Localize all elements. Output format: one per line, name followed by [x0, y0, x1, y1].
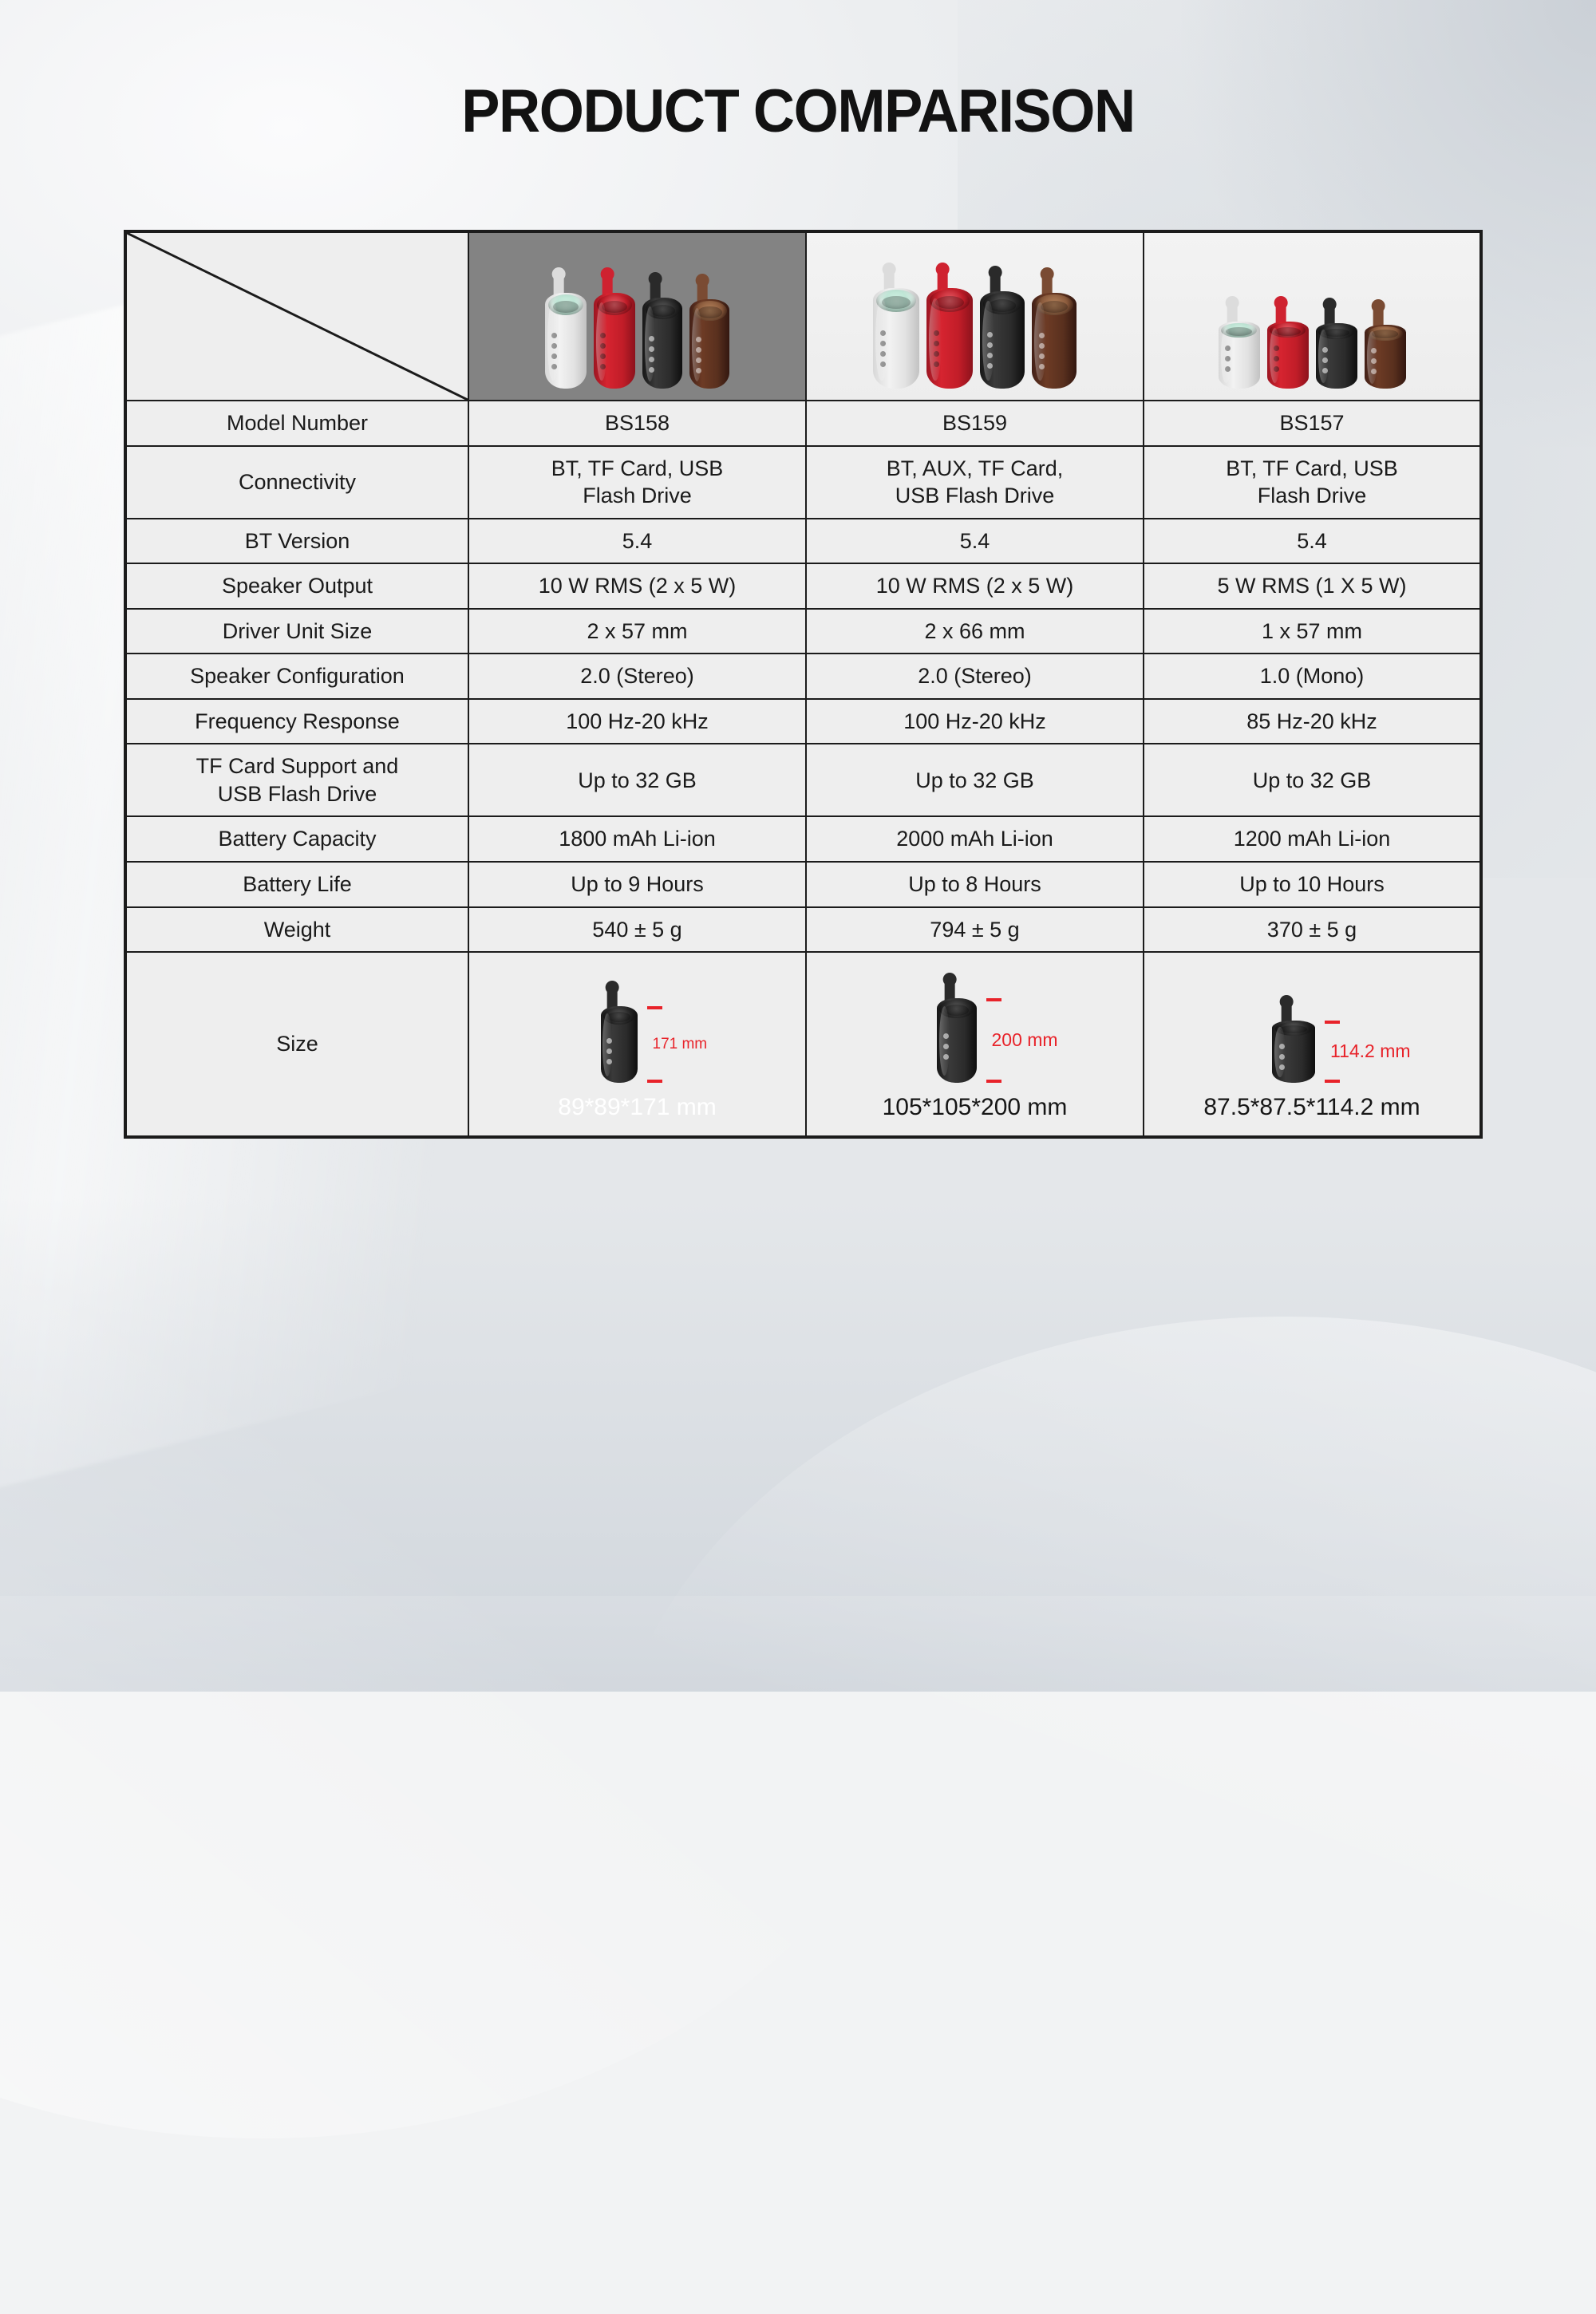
table-row: Driver Unit Size 2 x 57 mm 2 x 66 mm 1 x…: [125, 609, 1481, 654]
row-label: Battery Life: [125, 862, 468, 907]
table-row: Battery Capacity 1800 mAh Li-ion 2000 mA…: [125, 816, 1481, 862]
table-row-size: Size 171 mm: [125, 952, 1481, 1137]
row-value-bs158: 540 ± 5 g: [468, 907, 806, 953]
table-body: Model Number BS158 BS159 BS157 Connectiv…: [125, 231, 1481, 1137]
row-value-bs158: Up to 9 Hours: [468, 862, 806, 907]
speaker-white-icon: [873, 288, 919, 389]
product-comparison-table: Model Number BS158 BS159 BS157 Connectiv…: [124, 230, 1483, 1139]
size-caption: 89*89*171 mm: [558, 1092, 716, 1123]
table-row: Frequency Response 100 Hz-20 kHz 100 Hz-…: [125, 699, 1481, 744]
size-cell-bs159: 200 mm 105*105*200 mm: [806, 952, 1144, 1137]
dimension-bracket-bs158: 171 mm: [647, 1006, 674, 1083]
row-label: TF Card Support andUSB Flash Drive: [125, 744, 468, 816]
row-value-bs158: BT, TF Card, USBFlash Drive: [468, 446, 806, 519]
row-value-bs159: BT, AUX, TF Card,USB Flash Drive: [806, 446, 1144, 519]
row-value-bs157: Up to 32 GB: [1144, 744, 1481, 816]
row-value-bs158: 5.4: [468, 519, 806, 564]
row-value-bs157: 1 x 57 mm: [1144, 609, 1481, 654]
row-value-bs158: 100 Hz-20 kHz: [468, 699, 806, 744]
row-label: Driver Unit Size: [125, 609, 468, 654]
size-visual-bs159: 200 mm: [937, 963, 1013, 1083]
row-label: Connectivity: [125, 446, 468, 519]
row-value-bs159: Up to 32 GB: [806, 744, 1144, 816]
table-row: BT Version 5.4 5.4 5.4: [125, 519, 1481, 564]
header-image-cell-bs157: [1144, 231, 1481, 401]
header-image-cell-bs159: [806, 231, 1144, 401]
table-row: TF Card Support andUSB Flash Drive Up to…: [125, 744, 1481, 816]
table-row: Weight 540 ± 5 g 794 ± 5 g 370 ± 5 g: [125, 907, 1481, 953]
row-value-bs159: Up to 8 Hours: [806, 862, 1144, 907]
row-label: Model Number: [125, 401, 468, 446]
header-image-cell-bs158: [468, 231, 806, 401]
size-visual-bs158: 171 mm: [601, 963, 674, 1083]
row-label: Weight: [125, 907, 468, 953]
speaker-black-icon: [937, 998, 977, 1083]
speaker-black-icon: [1316, 323, 1357, 389]
speaker-group-bs158: [469, 233, 805, 400]
speaker-black-icon: [642, 298, 682, 389]
speaker-brown-icon: [689, 299, 729, 389]
diagonal-divider-icon: [127, 233, 468, 400]
dimension-bracket-bs157: 114.2 mm: [1325, 1021, 1352, 1083]
speaker-red-icon: [594, 293, 635, 389]
speaker-red-icon: [1267, 322, 1309, 389]
size-caption: 105*105*200 mm: [883, 1092, 1068, 1123]
row-value-bs159: 794 ± 5 g: [806, 907, 1144, 953]
row-value-bs157: 1200 mAh Li-ion: [1144, 816, 1481, 862]
header-corner-label: [298, 400, 298, 401]
row-value-bs157: 5.4: [1144, 519, 1481, 564]
speaker-group-bs157: [1144, 233, 1479, 400]
row-label: Frequency Response: [125, 699, 468, 744]
speaker-brown-icon: [1365, 325, 1406, 389]
dimension-bracket-bs159: 200 mm: [986, 998, 1013, 1083]
table-row: Speaker Configuration 2.0 (Stereo) 2.0 (…: [125, 654, 1481, 699]
table-row: Battery Life Up to 9 Hours Up to 8 Hours…: [125, 862, 1481, 907]
row-label: Size: [125, 952, 468, 1137]
row-value-bs158: 2.0 (Stereo): [468, 654, 806, 699]
dimension-label: 171 mm: [653, 1035, 708, 1054]
row-value-bs159: 2 x 66 mm: [806, 609, 1144, 654]
table-row: Model Number BS158 BS159 BS157: [125, 401, 1481, 446]
row-value-bs157: Up to 10 Hours: [1144, 862, 1481, 907]
table-header-row: [125, 231, 1481, 401]
speaker-group-bs159: [807, 233, 1143, 400]
row-value-bs159: 2000 mAh Li-ion: [806, 816, 1144, 862]
comparison-table-wrapper: Model Number BS158 BS159 BS157 Connectiv…: [124, 230, 1480, 1139]
row-value-bs158: 1800 mAh Li-ion: [468, 816, 806, 862]
speaker-white-icon: [545, 293, 587, 389]
row-value-bs158: 2 x 57 mm: [468, 609, 806, 654]
row-value-bs159: 10 W RMS (2 x 5 W): [806, 563, 1144, 609]
row-value-bs157: 1.0 (Mono): [1144, 654, 1481, 699]
row-value-bs157: 370 ± 5 g: [1144, 907, 1481, 953]
speaker-black-icon: [980, 291, 1025, 389]
table-row: Speaker Output 10 W RMS (2 x 5 W) 10 W R…: [125, 563, 1481, 609]
row-label: BT Version: [125, 519, 468, 564]
row-label: Speaker Configuration: [125, 654, 468, 699]
row-value-bs157: 85 Hz-20 kHz: [1144, 699, 1481, 744]
row-value-bs158: Up to 32 GB: [468, 744, 806, 816]
row-value-bs159: BS159: [806, 401, 1144, 446]
size-cell-bs158: 171 mm 89*89*171 mm: [468, 952, 806, 1137]
row-value-bs159: 2.0 (Stereo): [806, 654, 1144, 699]
page-title: PRODUCT COMPARISON: [40, 77, 1556, 146]
row-label: Battery Capacity: [125, 816, 468, 862]
row-label: Speaker Output: [125, 563, 468, 609]
speaker-black-icon: [601, 1006, 638, 1083]
row-value-bs157: 5 W RMS (1 X 5 W): [1144, 563, 1481, 609]
table-row: Connectivity BT, TF Card, USBFlash Drive…: [125, 446, 1481, 519]
speaker-red-icon: [926, 288, 973, 389]
speaker-black-icon: [1272, 1021, 1315, 1083]
row-value-bs157: BS157: [1144, 401, 1481, 446]
row-value-bs159: 5.4: [806, 519, 1144, 564]
size-caption: 87.5*87.5*114.2 mm: [1203, 1092, 1420, 1123]
speaker-white-icon: [1219, 322, 1260, 389]
speaker-brown-icon: [1032, 293, 1077, 389]
row-value-bs158: 10 W RMS (2 x 5 W): [468, 563, 806, 609]
row-value-bs158: BS158: [468, 401, 806, 446]
size-visual-bs157: 114.2 mm: [1272, 963, 1352, 1083]
row-value-bs157: BT, TF Card, USBFlash Drive: [1144, 446, 1481, 519]
dimension-label: 114.2 mm: [1330, 1040, 1411, 1063]
header-corner-diagonal-cell: [125, 231, 468, 401]
page-root: PRODUCT COMPARISON: [0, 0, 1596, 1596]
size-cell-bs157: 114.2 mm 87.5*87.5*114.2 mm: [1144, 952, 1481, 1137]
dimension-label: 200 mm: [992, 1029, 1058, 1052]
row-value-bs159: 100 Hz-20 kHz: [806, 699, 1144, 744]
